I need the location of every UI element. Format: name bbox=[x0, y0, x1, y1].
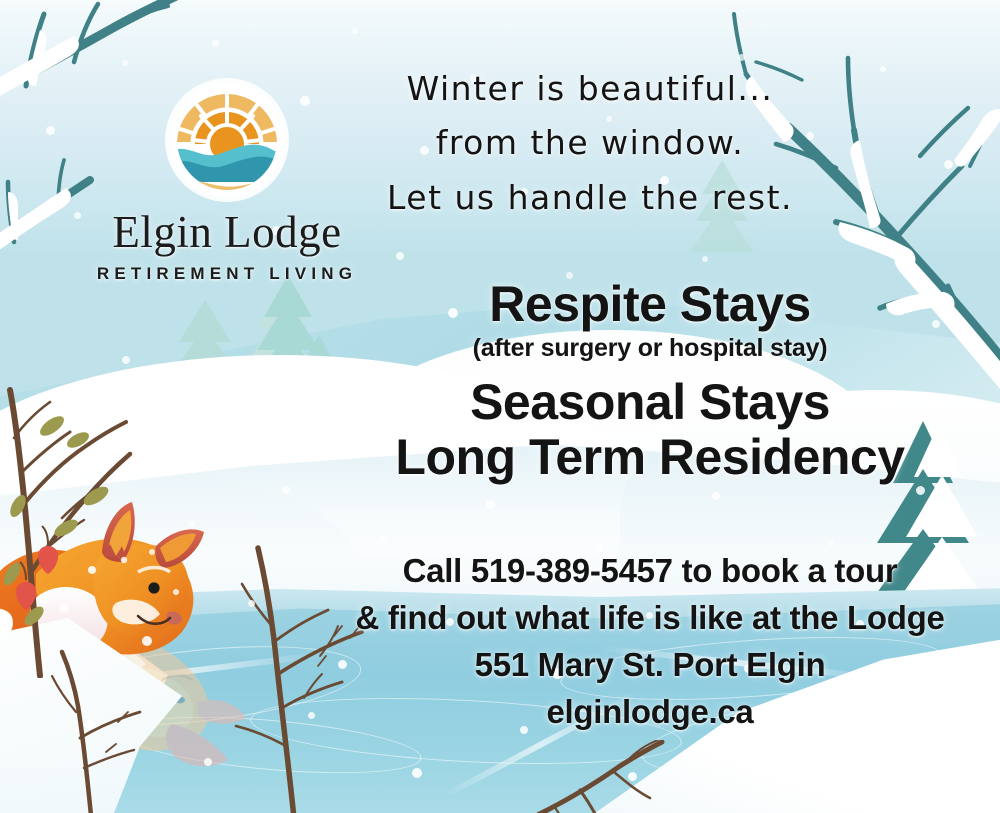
sunrise-over-water-icon bbox=[165, 78, 289, 202]
contact-phone-line[interactable]: Call 519-389-5457 to book a tour bbox=[300, 548, 1000, 595]
service-heading-respite: Respite Stays bbox=[330, 278, 970, 330]
foreground-twig-left bbox=[18, 648, 188, 813]
service-heading-seasonal: Seasonal Stays bbox=[330, 374, 970, 430]
script-line-2: from the window. bbox=[355, 116, 825, 170]
contact-tagline: & find out what life is like at the Lodg… bbox=[300, 595, 1000, 642]
script-line-3: Let us handle the rest. bbox=[355, 171, 825, 225]
contact-block: Call 519-389-5457 to book a tour & find … bbox=[300, 548, 1000, 735]
services-block: Respite Stays (after surgery or hospital… bbox=[330, 278, 970, 485]
service-subheading-respite: (after surgery or hospital stay) bbox=[330, 330, 970, 368]
brand-name: Elgin Lodge bbox=[82, 210, 372, 255]
script-message-block: Winter is beautiful... from the window. … bbox=[355, 62, 825, 225]
berry-branch-left bbox=[0, 378, 220, 678]
foreground-twig-bottom-right bbox=[510, 740, 710, 813]
script-line-1: Winter is beautiful... bbox=[355, 62, 825, 116]
service-heading-longterm: Long Term Residency bbox=[330, 430, 970, 485]
brand-tagline: RETIREMENT LIVING bbox=[82, 264, 372, 284]
brand-logo-block: Elgin Lodge RETIREMENT LIVING bbox=[82, 78, 372, 284]
poster-canvas: Elgin Lodge RETIREMENT LIVING Winter is … bbox=[0, 0, 1000, 813]
contact-website[interactable]: elginlodge.ca bbox=[300, 689, 1000, 736]
contact-address: 551 Mary St. Port Elgin bbox=[300, 642, 1000, 689]
